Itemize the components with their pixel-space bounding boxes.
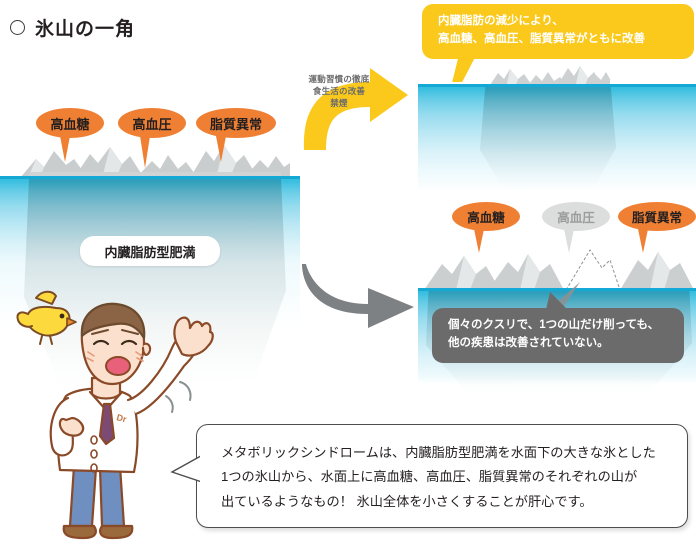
tag-label: 高血圧	[557, 207, 595, 226]
arrow-line: 食生活の改善	[300, 85, 378, 97]
lifestyle-result-callout-box: 内臓脂肪の減少により、 高血糖、高血圧、脂質異常がともに改善	[422, 4, 694, 59]
waterline-top-right	[418, 84, 696, 87]
tag-tail-hypertension-left	[140, 136, 150, 168]
lifestyle-intervention-arrow-label: 運動習慣の徹底 食生活の改善 禁煙	[300, 73, 378, 109]
arrow-line: 運動習慣の徹底	[300, 73, 378, 85]
callout-line: 個々のクスリで、1つの山だけ削っても、	[448, 317, 670, 335]
water-band-top-right	[418, 84, 696, 192]
callout-line: 他の疾患は改善されていない。	[448, 335, 670, 353]
waterline-left	[0, 176, 300, 179]
summary-line: メタボリックシンドロームは、内臓脂肪型肥満を水面下の大きな氷とした	[221, 441, 673, 465]
circle-outline-icon	[10, 20, 25, 35]
tag-tail-dyslipidemia-right	[638, 229, 648, 253]
tag-label: 高血糖	[50, 114, 89, 133]
visceral-obesity-label: 内臓脂肪型肥満	[104, 242, 195, 261]
single-drug-result-callout-box: 個々のクスリで、1つの山だけ削っても、 他の疾患は改善されていない。	[432, 308, 684, 363]
tag-label: 脂質異常	[210, 114, 262, 133]
tag-hypertension-left[interactable]: 高血圧	[118, 108, 186, 138]
single-drug-arrow	[302, 258, 424, 330]
tag-label: 脂質異常	[632, 207, 682, 226]
tag-tail-hyperglycemia-right	[474, 229, 484, 253]
infographic-canvas: 氷山の一角	[0, 0, 696, 542]
summary-line: 1つの氷山から、水面上に高血糖、高血圧、脂質異常のそれぞれの山が	[221, 465, 673, 489]
tag-tail-hypertension-right	[564, 229, 574, 253]
single-drug-result-callout: 個々のクスリで、1つの山だけ削っても、 他の疾患は改善されていない。	[432, 308, 684, 363]
summary-speech-bubble-text: メタボリックシンドロームは、内臓脂肪型肥満を水面下の大きな氷とした 1つの氷山か…	[221, 441, 673, 514]
summary-speech-bubble: メタボリックシンドロームは、内臓脂肪型肥満を水面下の大きな氷とした 1つの氷山か…	[196, 424, 688, 528]
tag-tail-dyslipidemia-left	[216, 136, 226, 162]
after-lifestyle-panel: 内臓脂肪の減少により、 高血糖、高血圧、脂質異常がともに改善	[418, 0, 696, 196]
tag-tail-hyperglycemia-left	[60, 136, 70, 162]
visceral-obesity-plaque: 内臓脂肪型肥満	[80, 236, 220, 266]
tag-hyperglycemia-right[interactable]: 高血糖	[452, 202, 520, 231]
tag-label: 高血圧	[132, 114, 171, 133]
tag-hypertension-right-removed[interactable]: 高血圧	[542, 202, 610, 231]
page-title-text: 氷山の一角	[35, 14, 135, 41]
single-drug-result-callout-tail	[542, 292, 568, 310]
tag-dyslipidemia-right[interactable]: 脂質異常	[618, 202, 696, 231]
tag-dyslipidemia-left[interactable]: 脂質異常	[196, 108, 276, 138]
tag-hyperglycemia-left[interactable]: 高血糖	[36, 108, 104, 138]
tag-label: 高血糖	[467, 207, 505, 226]
callout-line: 内臓脂肪の減少により、	[438, 13, 680, 31]
summary-line: 出ているようなもの！ 氷山全体を小さくすることが肝心です。	[221, 490, 673, 514]
arrow-line: 禁煙	[300, 97, 378, 109]
after-single-drug-panel: 高血糖 高血圧 脂質異常	[418, 196, 696, 406]
page-title: 氷山の一角	[10, 14, 135, 41]
lifestyle-result-callout: 内臓脂肪の減少により、 高血糖、高血圧、脂質異常がともに改善	[422, 4, 694, 59]
callout-line: 高血糖、高血圧、脂質異常がともに改善	[438, 31, 680, 49]
doctor-character: Dr	[30, 300, 215, 542]
